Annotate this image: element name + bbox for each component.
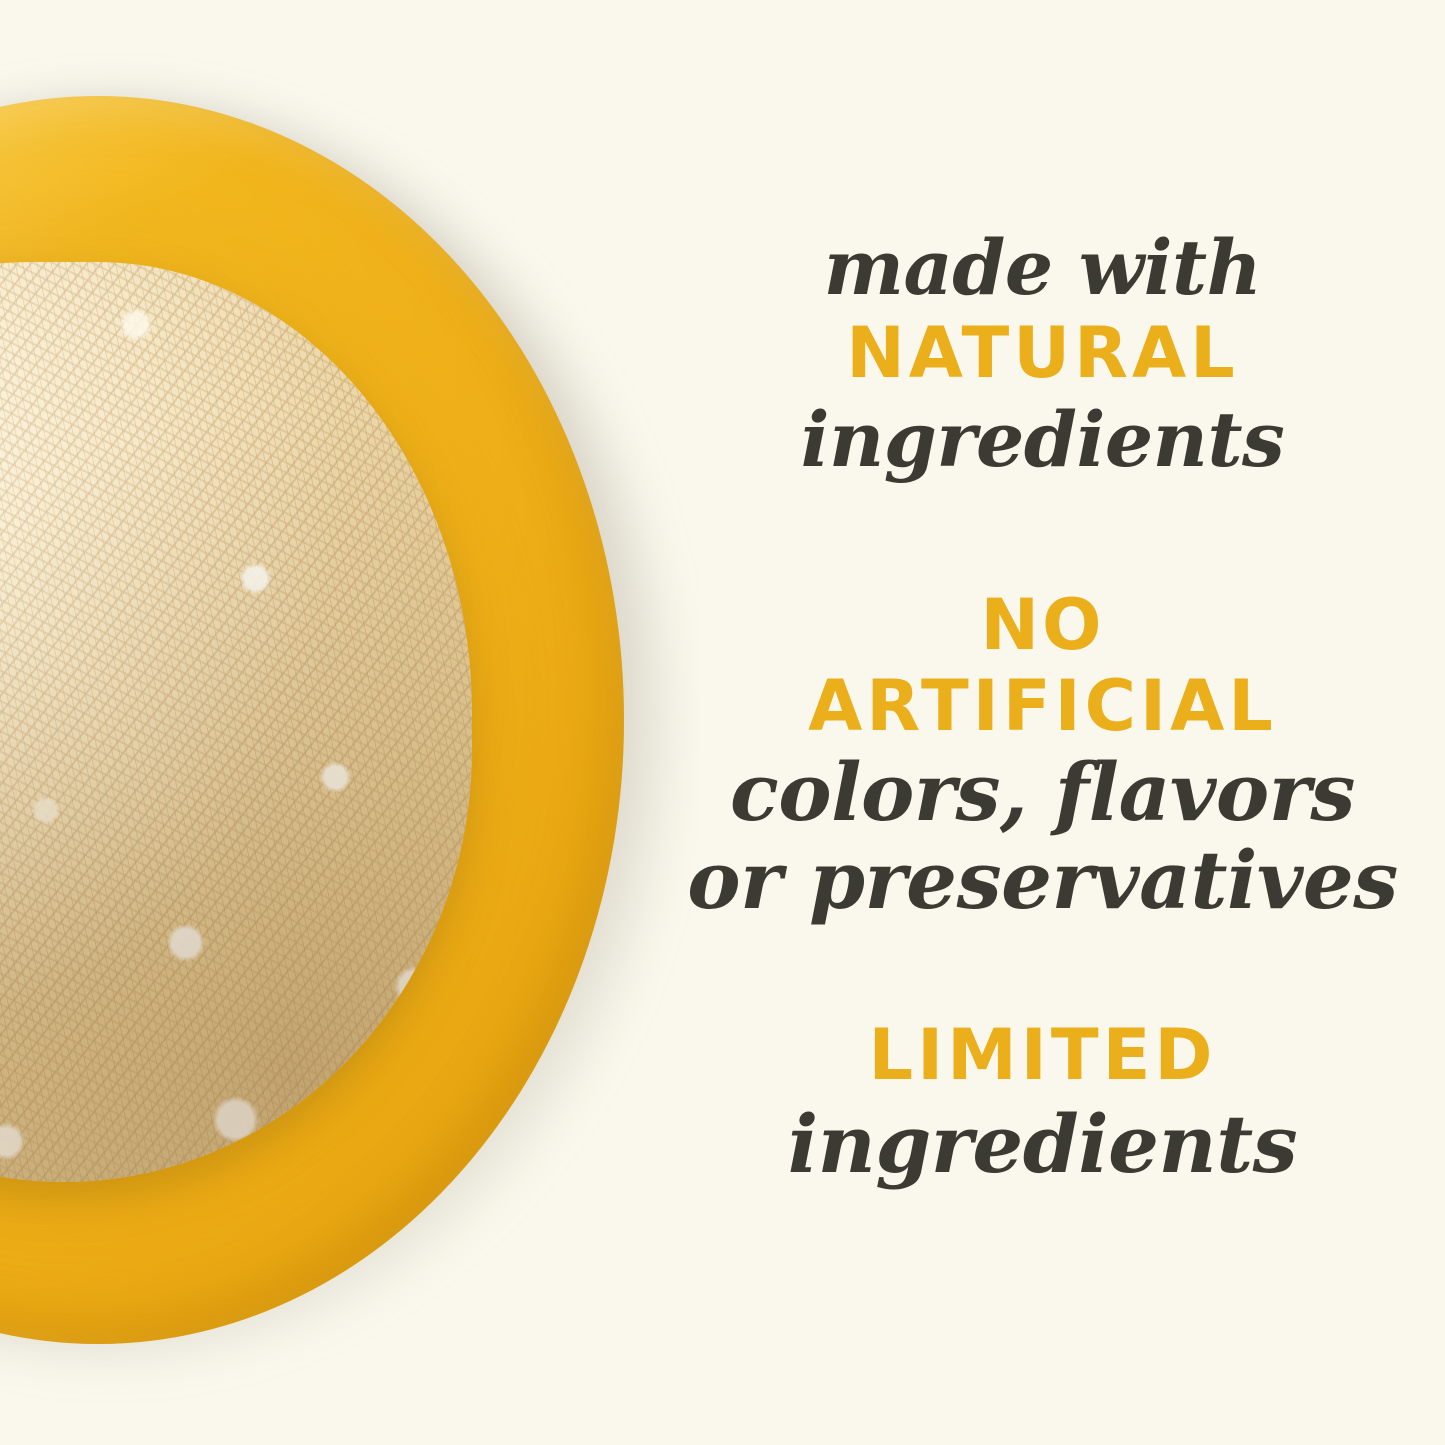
claim-line-highlight: LIMITED xyxy=(640,1014,1445,1096)
claim-line: ingredients xyxy=(640,394,1445,486)
claim-line-highlight: ARTIFICIAL xyxy=(640,664,1445,748)
claim-limited-ingredients: LIMITED ingredients xyxy=(640,1014,1445,1192)
claim-line: colors, flavors xyxy=(640,748,1445,836)
claim-line: or preservatives xyxy=(640,836,1445,924)
claim-no-artificial-colors-flavors-or-preservatives: NO ARTIFICIAL colors, flavors or preserv… xyxy=(640,586,1445,924)
shredded-chicken-and-rice xyxy=(0,262,472,1182)
claim-line: made with xyxy=(640,224,1445,312)
product-claims-banner: made with NATURAL ingredients NO ARTIFIC… xyxy=(0,0,1445,1445)
product-photo xyxy=(0,0,700,1445)
claim-line-highlight: NO xyxy=(640,586,1445,664)
claims-column: made with NATURAL ingredients NO ARTIFIC… xyxy=(640,0,1445,1445)
claim-line: ingredients xyxy=(640,1096,1445,1192)
claim-line-highlight: NATURAL xyxy=(640,312,1445,394)
claim-made-with-natural-ingredients: made with NATURAL ingredients xyxy=(640,224,1445,486)
